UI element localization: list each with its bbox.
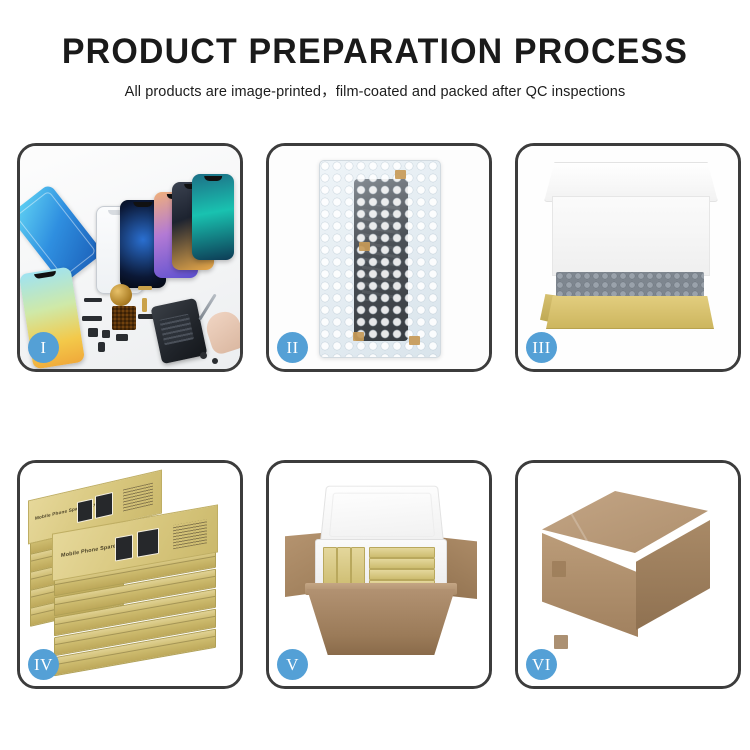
bubble-bag-icon: [319, 160, 441, 358]
box-window-icon: [137, 528, 159, 558]
process-panel-1[interactable]: I: [17, 143, 243, 372]
small-chip-icon: [102, 330, 110, 338]
box-window-icon: [95, 492, 113, 519]
page-subtitle: All products are image-printed，film-coat…: [0, 80, 750, 101]
tape-icon: [359, 242, 370, 251]
carton-body-icon: [307, 589, 455, 655]
process-panel-grid: I II III: [17, 143, 733, 689]
panel-badge-3: III: [526, 332, 557, 363]
screw-icon: [200, 352, 207, 359]
box-window-icon: [77, 498, 93, 523]
tape-icon: [395, 170, 406, 179]
button-part-icon: [98, 342, 105, 352]
yellow-box-item: [369, 547, 435, 558]
yellow-box-item: [369, 569, 435, 580]
carton-tape-icon: [552, 561, 566, 577]
process-panel-4[interactable]: Mobile Phone Spare Parts Mobile Phone Sp…: [17, 460, 243, 689]
panel-badge-5: V: [277, 649, 308, 680]
speaker-icon: [116, 334, 128, 341]
gold-contact-icon: [142, 298, 147, 312]
box-window-icon: [115, 534, 133, 561]
process-panel-2[interactable]: II: [266, 143, 492, 372]
process-panel-5[interactable]: V: [266, 460, 492, 689]
kraft-box-front-icon: [546, 296, 714, 329]
panel-badge-6: VI: [526, 649, 557, 680]
process-panel-3[interactable]: III: [515, 143, 741, 372]
yellow-box-item: [369, 558, 435, 569]
foam-liner-icon: [552, 196, 710, 276]
panel-badge-2: II: [277, 332, 308, 363]
logic-board-icon: [112, 306, 136, 330]
tape-icon: [409, 336, 420, 345]
panel-badge-1: I: [28, 332, 59, 363]
bubble-wrapped-contents-icon: [556, 272, 704, 300]
tape-icon: [353, 332, 364, 341]
page-title: PRODUCT PREPARATION PROCESS: [11, 34, 739, 71]
carton-tape-icon: [554, 635, 568, 649]
process-panel-6[interactable]: VI: [515, 460, 741, 689]
box-spec-lines: [173, 519, 207, 549]
page-header: PRODUCT PREPARATION PROCESS All products…: [0, 0, 750, 101]
flex-cable-icon: [82, 316, 102, 321]
screw-icon: [212, 358, 218, 364]
panel-badge-4: IV: [28, 649, 59, 680]
gold-contact-icon: [138, 286, 152, 290]
connector-icon: [84, 298, 102, 302]
box-spec-lines: [123, 483, 153, 512]
camera-module-icon: [110, 284, 132, 306]
phone-display-teal-icon: [192, 174, 234, 260]
styrofoam-lid-icon: [320, 486, 445, 546]
small-chip-icon: [88, 328, 98, 337]
